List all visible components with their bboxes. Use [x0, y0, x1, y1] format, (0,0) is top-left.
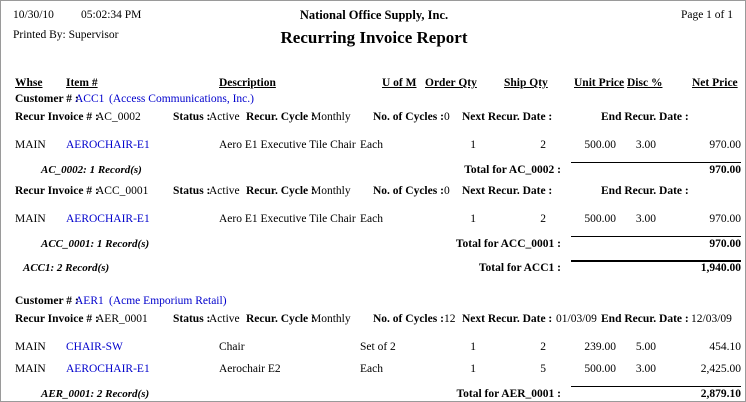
- no-of-cycles-value: 0: [444, 185, 450, 197]
- row-net-price: 2,425.00: [1, 363, 741, 375]
- company-name: National Office Supply, Inc.: [1, 8, 746, 23]
- no-of-cycles-value: 0: [444, 111, 450, 123]
- column-header-whse: Whse: [15, 77, 42, 89]
- row-net-price: 970.00: [1, 213, 741, 225]
- report-page: 10/30/10 05:02:34 PM National Office Sup…: [0, 0, 746, 402]
- recur-invoice-label: Recur Invoice # :: [15, 313, 99, 325]
- end-recur-date-label: End Recur. Date :: [601, 185, 689, 197]
- customer-number-label: Customer # :: [15, 93, 79, 105]
- recur-cycle-value: Monthly: [311, 313, 351, 325]
- no-of-cycles-label: No. of Cycles :: [373, 185, 444, 197]
- recur-invoice-number: ACC_0001: [96, 185, 148, 197]
- next-recur-date-label: Next Recur. Date :: [462, 313, 552, 325]
- customer-total-value: 1,940.00: [1, 262, 741, 274]
- customer-number-label: Customer # :: [15, 295, 79, 307]
- status-value: Active: [209, 111, 240, 123]
- total-rule: [571, 236, 741, 237]
- total-rule: [571, 162, 741, 163]
- status-label: Status :: [173, 313, 210, 325]
- recur-cycle-label: Recur. Cycle :: [246, 185, 315, 197]
- end-recur-date-label: End Recur. Date :: [601, 111, 689, 123]
- customer-name: (Access Communications, Inc.): [109, 93, 254, 105]
- total-rule: [571, 386, 741, 387]
- status-label: Status :: [173, 185, 210, 197]
- column-header-net-price: Net Price: [692, 77, 738, 89]
- status-label: Status :: [173, 111, 210, 123]
- recur-cycle-value: Monthly: [311, 185, 351, 197]
- no-of-cycles-label: No. of Cycles :: [373, 313, 444, 325]
- end-recur-date-label: End Recur. Date :: [601, 313, 689, 325]
- recur-invoice-label: Recur Invoice # :: [15, 185, 99, 197]
- column-header-description: Description: [219, 77, 276, 89]
- invoice-total-value: 970.00: [1, 164, 741, 176]
- column-header-ship-qty: Ship Qty: [504, 77, 548, 89]
- page-title: Recurring Invoice Report: [1, 28, 746, 48]
- no-of-cycles-label: No. of Cycles :: [373, 111, 444, 123]
- column-header-order-qty: Order Qty: [425, 77, 477, 89]
- recur-cycle-value: Monthly: [311, 111, 351, 123]
- no-of-cycles-value: 12: [444, 313, 456, 325]
- next-recur-date-label: Next Recur. Date :: [462, 111, 552, 123]
- customer-name: (Acme Emporium Retail): [109, 295, 227, 307]
- recur-invoice-number: AC_0002: [96, 111, 141, 123]
- column-header-item: Item #: [66, 77, 98, 89]
- next-recur-date-label: Next Recur. Date :: [462, 185, 552, 197]
- recur-cycle-label: Recur. Cycle :: [246, 313, 315, 325]
- customer-code[interactable]: ACC1: [75, 93, 104, 105]
- page-number: Page 1 of 1: [681, 9, 733, 21]
- invoice-total-value: 2,879.10: [1, 388, 741, 400]
- status-value: Active: [209, 313, 240, 325]
- column-header-unit-price: Unit Price: [574, 77, 624, 89]
- row-net-price: 454.10: [1, 341, 741, 353]
- next-recur-date-value: 01/03/09: [556, 313, 597, 325]
- status-value: Active: [209, 185, 240, 197]
- invoice-total-value: 970.00: [1, 238, 741, 250]
- row-net-price: 970.00: [1, 139, 741, 151]
- column-header-uom: U of M: [382, 77, 417, 89]
- customer-code[interactable]: AER1: [75, 295, 104, 307]
- recur-invoice-number: AER_0001: [96, 313, 148, 325]
- recur-cycle-label: Recur. Cycle :: [246, 111, 315, 123]
- column-header-disc: Disc %: [627, 77, 662, 89]
- end-recur-date-value: 12/03/09: [691, 313, 732, 325]
- recur-invoice-label: Recur Invoice # :: [15, 111, 99, 123]
